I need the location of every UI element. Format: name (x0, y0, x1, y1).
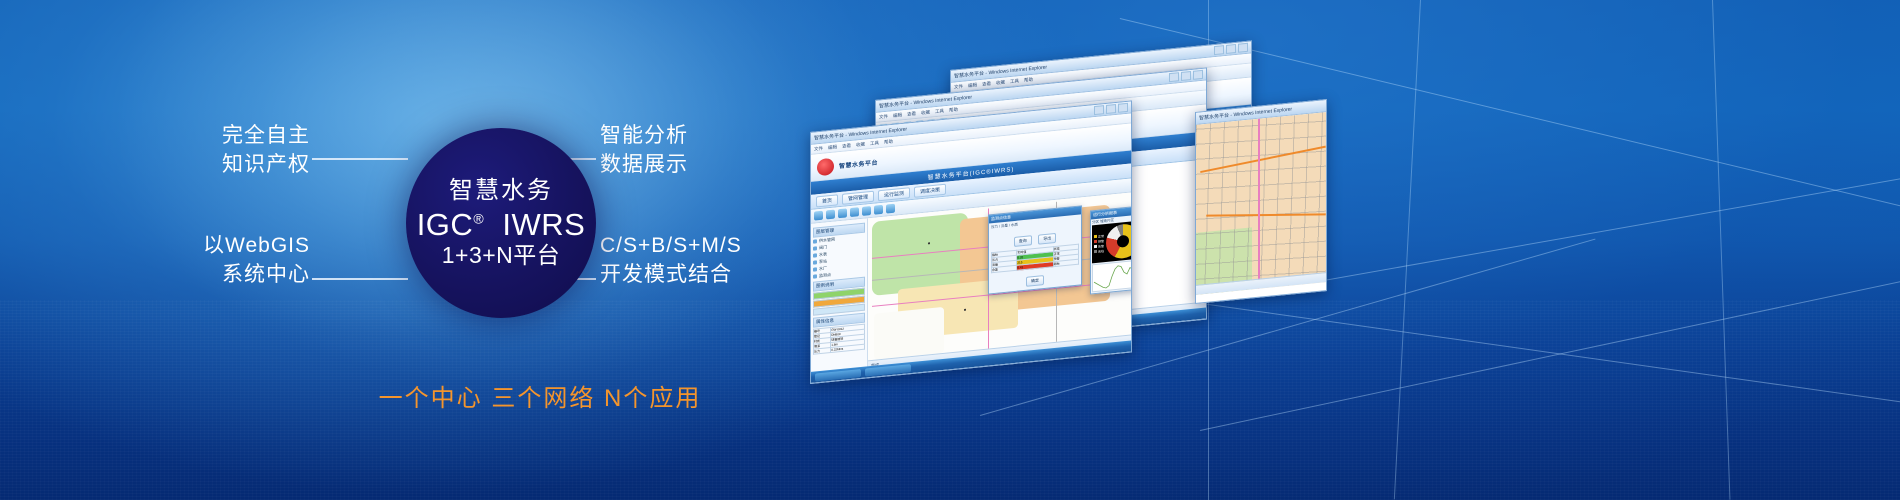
menu-item-file[interactable]: 文件 (814, 145, 823, 152)
circle-line-2: IGC® IWRS (417, 209, 586, 242)
tree-item-label: 监测点 (819, 272, 831, 279)
export-button[interactable]: 导出 (1038, 233, 1056, 245)
tree-item-label: 水表 (819, 251, 827, 258)
menu-item-edit[interactable]: 编辑 (968, 82, 977, 89)
label-top-right-line1: 智能分析 (600, 122, 688, 151)
pie-legend-label: 告警 (1098, 244, 1104, 249)
pan-icon (814, 211, 823, 221)
layer-tree-panel[interactable]: 图层管理 供水管网 阀门 水表 泵站 水厂 监测点 图例说明 属性信息 编号GW… (811, 218, 868, 376)
menu-item-favorites[interactable]: 收藏 (996, 79, 1005, 86)
menu-item-edit[interactable]: 编辑 (893, 112, 902, 119)
nav-item-dispatch[interactable]: 调度决策 (914, 183, 946, 197)
connector-line-bottom-left (312, 278, 408, 280)
dialog-body: 分区 城南片区 正常 预警 告警 离线 (1091, 213, 1131, 293)
close-icon (1118, 103, 1128, 113)
ok-button[interactable]: 确定 (1026, 275, 1044, 287)
label-top-left-line1: 完全自主 (150, 122, 310, 151)
center-circle-badge: 智慧水务 IGC® IWRS 1+3+N平台 (406, 128, 596, 318)
pie-chart: 正常 预警 告警 离线 (1092, 219, 1131, 263)
minimize-icon (1169, 72, 1179, 82)
zoom-out-icon (838, 208, 847, 218)
menu-item-favorites[interactable]: 收藏 (921, 109, 930, 116)
menu-item-edit[interactable]: 编辑 (828, 144, 837, 151)
layer-icon (813, 274, 817, 278)
layer-icon (813, 260, 817, 264)
selector-label: 分区 (1092, 220, 1099, 225)
nav-item-monitor[interactable]: 运行监测 (878, 187, 910, 201)
close-icon (1238, 43, 1248, 53)
menu-item-tools[interactable]: 工具 (1010, 78, 1019, 85)
hero-tagline: 一个中心 三个网络 N个应用 (330, 378, 750, 413)
attribute-table: 编号GW-0012 管径DN800 材质球墨铸铁 埋深1.8m 压力0.32MP… (813, 324, 865, 355)
layer-icon (886, 204, 895, 214)
connector-line-top-left (312, 158, 408, 160)
maximize-icon (1226, 44, 1236, 54)
circle-line-1: 智慧水务 (449, 178, 553, 203)
menu-item-tools[interactable]: 工具 (870, 140, 879, 147)
tree-item-label: 泵站 (819, 258, 827, 265)
label-top-left: 完全自主 知识产权 (150, 122, 310, 180)
layer-icon (813, 267, 817, 271)
pie-legend-label: 离线 (1098, 249, 1104, 254)
trend-chart-svg (1093, 259, 1131, 291)
measure-icon (862, 206, 871, 216)
minimize-icon (1094, 105, 1104, 115)
pie-legend-label: 正常 (1098, 234, 1104, 239)
minimize-icon (1214, 45, 1224, 55)
menu-item-view[interactable]: 查看 (982, 80, 991, 87)
selector-value[interactable]: 城南片区 (1100, 218, 1114, 223)
maximize-icon (1106, 104, 1116, 114)
maximize-icon (1181, 71, 1191, 81)
window-front[interactable]: 智慧水务平台 - Windows Internet Explorer 文件 编辑… (810, 100, 1132, 384)
menu-item-help[interactable]: 帮助 (884, 138, 893, 145)
nav-item-home[interactable]: 首页 (816, 194, 838, 207)
layer-icon (813, 246, 817, 250)
circle-line-3: 1+3+N平台 (442, 243, 561, 267)
query-button[interactable]: 查询 (1014, 235, 1032, 247)
layer-icon (813, 239, 817, 243)
label-bottom-right: C/S+B/S+M/S 开发模式结合 (600, 232, 742, 290)
menu-item-help[interactable]: 帮助 (949, 106, 958, 113)
circle-igc-text: IGC (417, 207, 474, 242)
circle-iwrs-text: IWRS (502, 207, 585, 242)
close-icon (1193, 70, 1203, 80)
label-top-left-line2: 知识产权 (150, 151, 310, 180)
street-map-canvas[interactable] (1196, 112, 1326, 295)
dialog-body: 压力 / 流量 / 水质 查询 导出 指标 实时值 状态 压力0.32正常 (989, 214, 1081, 293)
label-bottom-left-line2: 系统中心 (140, 261, 310, 290)
label-bottom-left: 以WebGIS 系统中心 (140, 232, 310, 290)
select-icon (850, 207, 859, 217)
label-bottom-right-line1: C/S+B/S+M/S (600, 232, 742, 261)
water-logo-icon (817, 157, 834, 176)
label-bottom-right-line2: 开发模式结合 (600, 261, 742, 290)
tree-item-label: 阀门 (819, 244, 827, 251)
window-street-map[interactable]: 智慧水务平台 - Windows Internet Explorer (1195, 99, 1327, 304)
zoom-in-icon (826, 210, 835, 220)
label-top-right: 智能分析 数据展示 (600, 122, 688, 180)
layer-icon (813, 253, 817, 257)
pie-graphic (1106, 223, 1131, 260)
menu-item-view[interactable]: 查看 (842, 142, 851, 149)
hero-infographic: 完全自主 知识产权 以WebGIS 系统中心 智能分析 数据展示 C/S+B/S… (0, 0, 820, 500)
menu-item-file[interactable]: 文件 (879, 113, 888, 120)
taskbar-item (865, 364, 911, 377)
menu-item-tools[interactable]: 工具 (935, 108, 944, 115)
menu-item-favorites[interactable]: 收藏 (856, 141, 865, 148)
label-top-right-line2: 数据展示 (600, 151, 688, 180)
menu-item-file[interactable]: 文件 (954, 83, 963, 90)
registered-mark-icon: ® (473, 210, 484, 226)
pie-legend: 正常 预警 告警 离线 (1094, 234, 1104, 254)
menu-item-help[interactable]: 帮助 (1024, 76, 1033, 83)
pie-legend-label: 预警 (1098, 239, 1104, 244)
banner-root: 完全自主 知识产权 以WebGIS 系统中心 智能分析 数据展示 C/S+B/S… (0, 0, 1900, 500)
dialog-monitor[interactable]: 监测点信息 压力 / 流量 / 水质 查询 导出 指标 实时值 状态 (988, 205, 1082, 294)
nav-item-pipeline[interactable]: 管网管理 (842, 190, 874, 204)
taskbar-item (815, 368, 861, 381)
label-bottom-left-line1: 以WebGIS (140, 232, 310, 261)
trend-chart (1092, 258, 1131, 292)
dialog-analysis[interactable]: 运行分析报表 分区 城南片区 正常 预警 告警 离线 (1090, 204, 1131, 295)
tree-item-label: 水厂 (819, 265, 827, 272)
menu-item-view[interactable]: 查看 (907, 110, 916, 117)
identify-icon (874, 205, 883, 215)
site-brand-text: 智慧水务平台 (839, 157, 878, 170)
